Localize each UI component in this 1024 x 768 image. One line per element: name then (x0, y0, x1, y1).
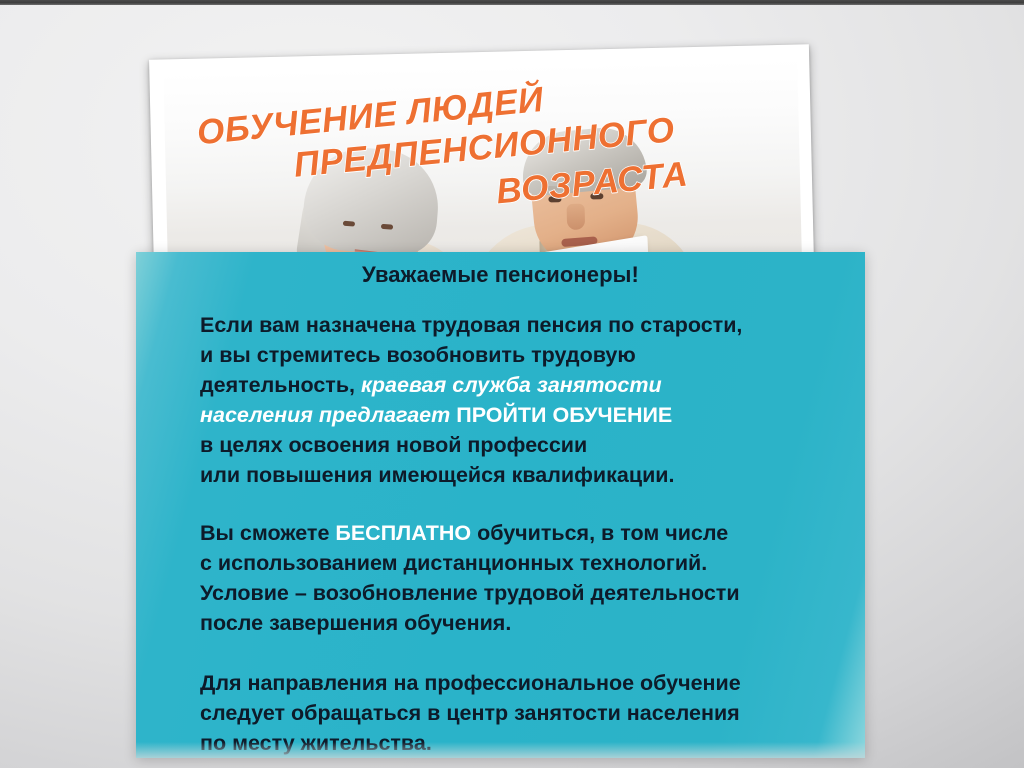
text-run: Если вам назначена трудовая пенсия по ст… (200, 313, 742, 337)
paragraph-para-3: Для направления на профессиональное обуч… (136, 668, 865, 758)
text-line: населения предлагает ПРОЙТИ ОБУЧЕНИЕ (200, 400, 865, 430)
text-line: по месту жительства. (200, 728, 865, 758)
text-line: Условие – возобновление трудовой деятель… (200, 578, 865, 608)
text-run: Условие – возобновление трудовой деятель… (200, 581, 740, 605)
text-run: ПРОЙТИ ОБУЧЕНИЕ (456, 403, 672, 427)
text-line: и вы стремитесь возобновить трудовую (200, 340, 865, 370)
text-run: деятельность, (200, 373, 361, 397)
text-run: населения предлагает (200, 403, 456, 427)
text-line: деятельность, краевая служба занятости (200, 370, 865, 400)
man-nose (567, 204, 586, 230)
text-line: или повышения имеющейся квалификации. (200, 460, 865, 490)
info-panel: Уважаемые пенсионеры! Если вам назначена… (136, 252, 865, 758)
text-line: Вы сможете БЕСПЛАТНО обучиться, в том чи… (200, 518, 865, 548)
panel-body: Если вам назначена трудовая пенсия по ст… (136, 310, 865, 758)
woman-eye-left (343, 221, 355, 227)
text-run: или повышения имеющейся квалификации. (200, 463, 675, 487)
text-run: с использованием дистанционных технологи… (200, 551, 707, 575)
text-line: Для направления на профессиональное обуч… (200, 668, 865, 698)
text-run: краевая служба занятости (361, 373, 662, 397)
text-line: следует обращаться в центр занятости нас… (200, 698, 865, 728)
text-line: после завершения обучения. (200, 608, 865, 638)
text-run: следует обращаться в центр занятости нас… (200, 701, 740, 725)
paragraph-para-2: Вы сможете БЕСПЛАТНО обучиться, в том чи… (136, 518, 865, 638)
text-run: обучиться, в том числе (471, 521, 728, 545)
text-line: с использованием дистанционных технологи… (200, 548, 865, 578)
top-edge-strip (0, 0, 1024, 5)
text-line: в целях освоения новой профессии (200, 430, 865, 460)
text-run: и вы стремитесь возобновить трудовую (200, 343, 636, 367)
presentation-slide: Обучение людей предпенсионного возраста … (0, 0, 1024, 768)
woman-eye-right (381, 224, 393, 230)
text-run: БЕСПЛАТНО (335, 521, 471, 545)
text-run: в целях освоения новой профессии (200, 433, 587, 457)
text-run: Вы сможете (200, 521, 335, 545)
text-run: Для направления на профессиональное обуч… (200, 671, 741, 695)
paragraph-para-1: Если вам назначена трудовая пенсия по ст… (136, 310, 865, 490)
text-line: Если вам назначена трудовая пенсия по ст… (200, 310, 865, 340)
panel-heading: Уважаемые пенсионеры! (136, 252, 865, 288)
text-run: после завершения обучения. (200, 611, 511, 635)
text-run: по месту жительства. (200, 731, 432, 755)
